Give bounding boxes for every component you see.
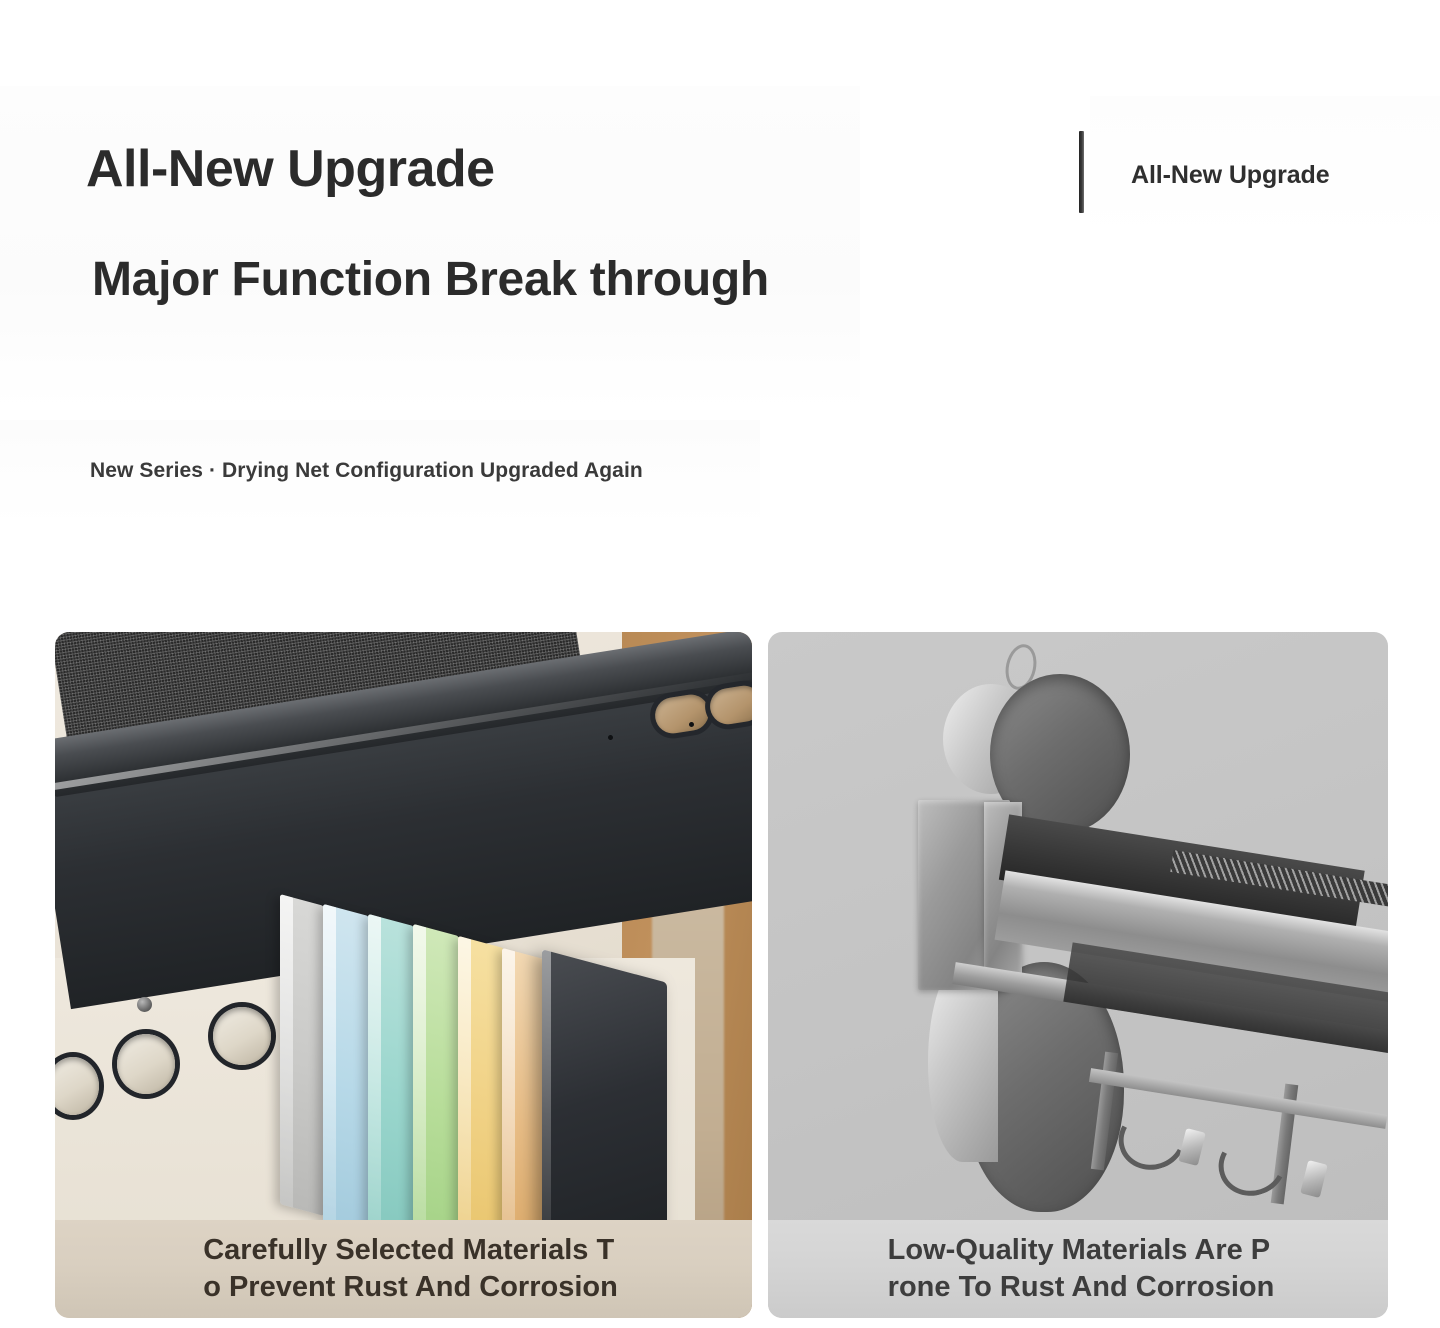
caption-bar-left: Carefully Selected Materials T o Prevent…: [55, 1220, 752, 1318]
page-title: All-New Upgrade: [86, 142, 495, 197]
vertical-accent-bar-icon: [1079, 131, 1084, 213]
page-subtitle-headline: Major Function Break through: [92, 248, 792, 311]
card-poor-material[interactable]: Low-Quality Materials Are P rone To Rust…: [768, 632, 1388, 1318]
photo-coated-rack: [55, 632, 752, 1318]
caption-bar-right: Low-Quality Materials Are P rone To Rust…: [768, 1220, 1388, 1318]
promo-page: All-New Upgrade Major Function Break thr…: [0, 0, 1440, 1328]
header-section: All-New Upgrade Major Function Break thr…: [0, 0, 1440, 600]
series-tagline: New Series · Drying Net Configuration Up…: [90, 459, 643, 483]
card-good-material[interactable]: Carefully Selected Materials T o Prevent…: [55, 632, 752, 1318]
comparison-cards: Carefully Selected Materials T o Prevent…: [0, 632, 1440, 1328]
photo-rusted-bracket: [768, 632, 1388, 1318]
badge-label: All-New Upgrade: [1131, 161, 1330, 190]
caption-left-text: Carefully Selected Materials T o Prevent…: [189, 1232, 618, 1306]
caption-right-text: Low-Quality Materials Are P rone To Rust…: [882, 1232, 1275, 1306]
